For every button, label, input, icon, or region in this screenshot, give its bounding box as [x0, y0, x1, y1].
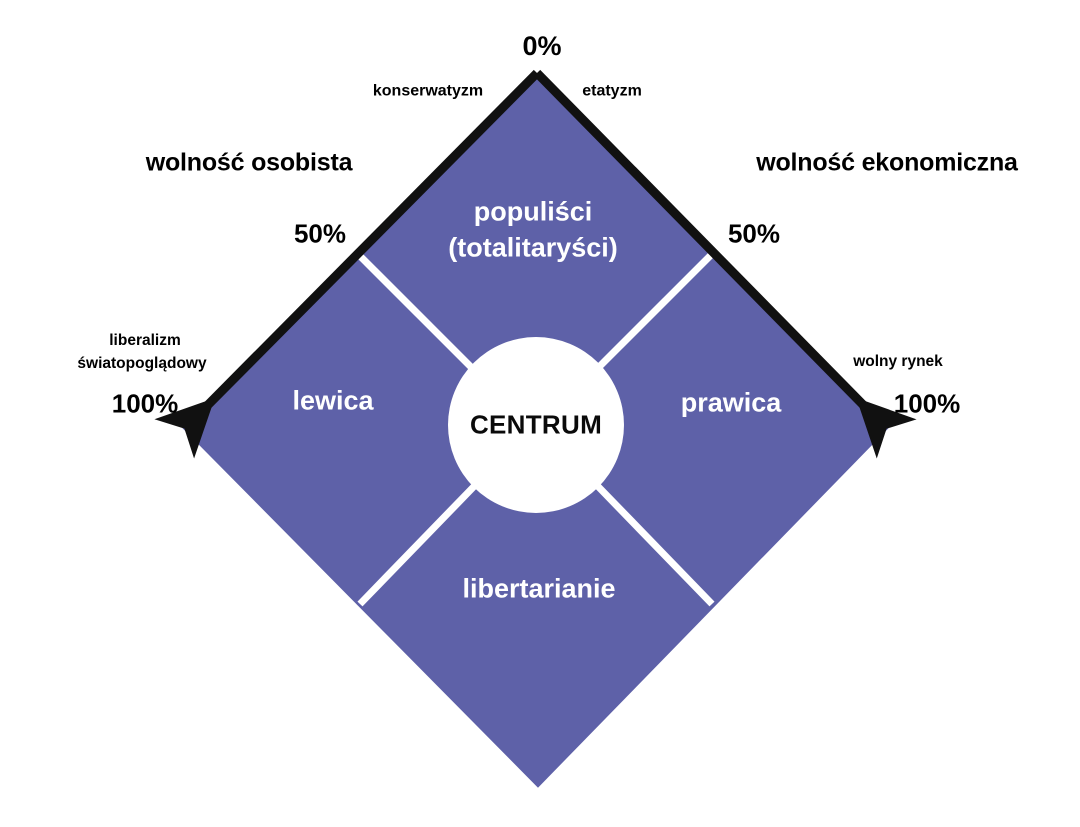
center-label: CENTRUM [470, 410, 602, 441]
scale-label-top: 0% [522, 31, 561, 63]
quadrant-lewica: lewica [292, 385, 373, 418]
scale-label-left-mid: 50% [294, 219, 346, 250]
axis-label-liberalizm-line1: liberalizm [109, 332, 181, 350]
axis-label-wolny-rynek: wolny rynek [853, 353, 943, 371]
diagram-canvas: 0% konserwatyzm etatyzm wolność osobista… [0, 0, 1080, 827]
axis-label-liberalizm-line2: światopoglądowy [77, 355, 206, 373]
scale-label-right-mid: 50% [728, 219, 780, 250]
scale-label-left-end: 100% [112, 389, 179, 420]
scale-label-right-end: 100% [894, 389, 961, 420]
axis-label-etatyzm: etatyzm [582, 83, 642, 102]
axis-label-konserwatyzm: konserwatyzm [373, 83, 483, 102]
heading-economic-freedom: wolność ekonomiczna [756, 148, 1018, 178]
quadrant-libertarianie: libertarianie [462, 573, 615, 606]
quadrant-populisci-line1: populiści [474, 196, 593, 229]
quadrant-prawica: prawica [681, 387, 782, 420]
quadrant-populisci-line2: (totalitaryści) [448, 232, 618, 265]
heading-personal-freedom: wolność osobista [146, 148, 353, 178]
